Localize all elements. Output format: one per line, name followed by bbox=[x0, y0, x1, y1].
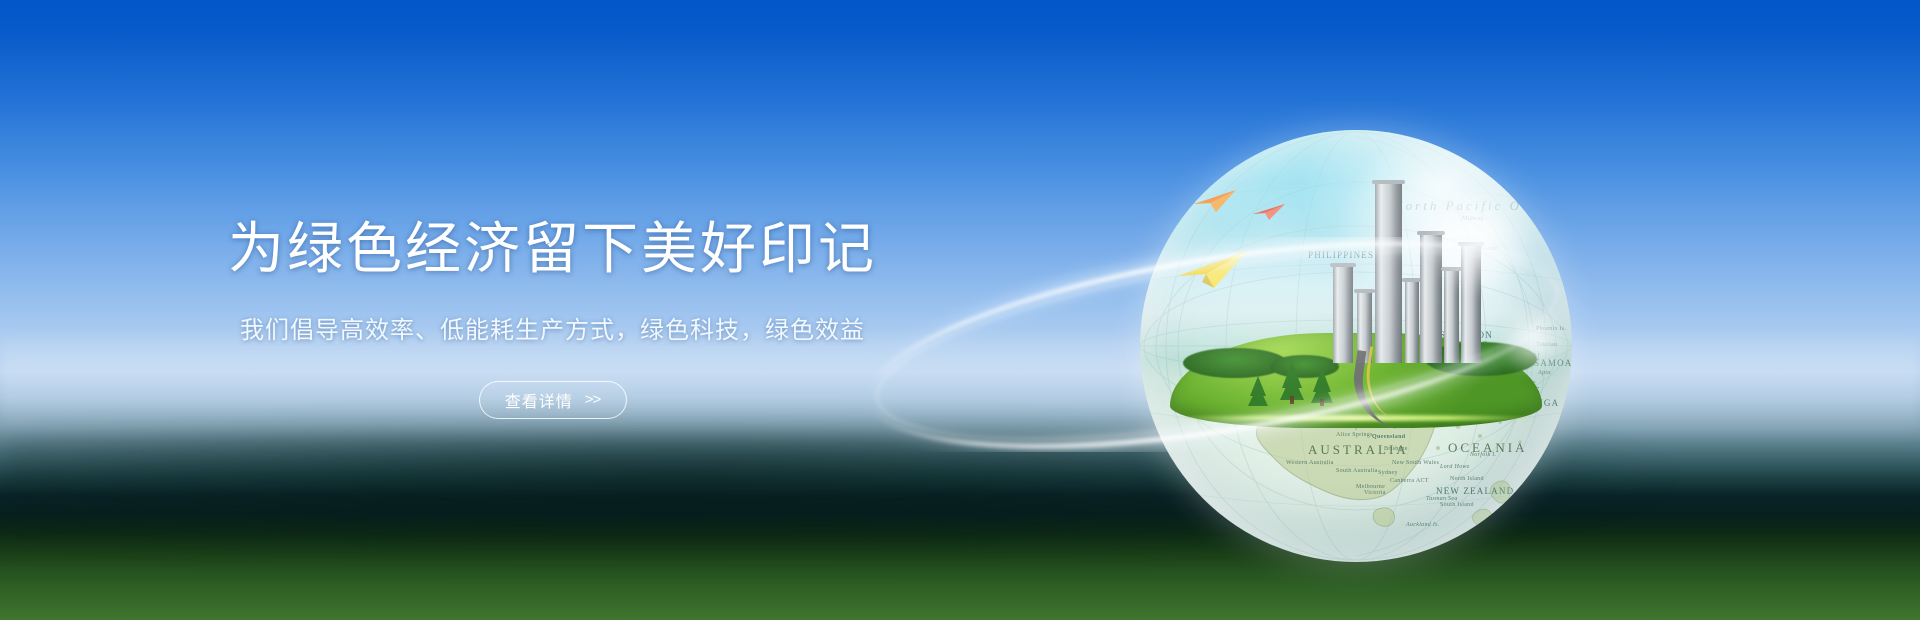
tower-5 bbox=[1420, 233, 1442, 364]
hero-banner: North Pacific Ocean Midway Wake Island P… bbox=[0, 0, 1920, 620]
cta-container: 查看详情 >> bbox=[0, 381, 1105, 419]
tower-3 bbox=[1375, 182, 1401, 363]
view-details-button[interactable]: 查看详情 >> bbox=[479, 381, 627, 419]
paper-plane-orange bbox=[1192, 188, 1238, 214]
paper-plane-yellow bbox=[1176, 248, 1250, 290]
view-details-label: 查看详情 bbox=[505, 388, 573, 412]
tower-1 bbox=[1333, 265, 1353, 363]
globe-sphere: North Pacific Ocean Midway Wake Island P… bbox=[1140, 130, 1572, 562]
paper-plane-red bbox=[1252, 202, 1286, 222]
tower-7 bbox=[1461, 244, 1481, 364]
eco-globe-illustration: North Pacific Ocean Midway Wake Island P… bbox=[1135, 125, 1580, 570]
page-title: 为绿色经济留下美好印记 bbox=[0, 216, 1105, 282]
hero-copy: 为绿色经济留下美好印记 我们倡导高效率、低能耗生产方式，绿色科技，绿色效益 查看… bbox=[0, 216, 1105, 419]
city-skyline bbox=[1330, 182, 1486, 363]
tower-6 bbox=[1444, 269, 1460, 363]
ground-shadow bbox=[0, 430, 1920, 550]
double-chevron-right-icon: >> bbox=[585, 391, 601, 408]
page-subtitle: 我们倡导高效率、低能耗生产方式，绿色科技，绿色效益 bbox=[0, 314, 1105, 348]
